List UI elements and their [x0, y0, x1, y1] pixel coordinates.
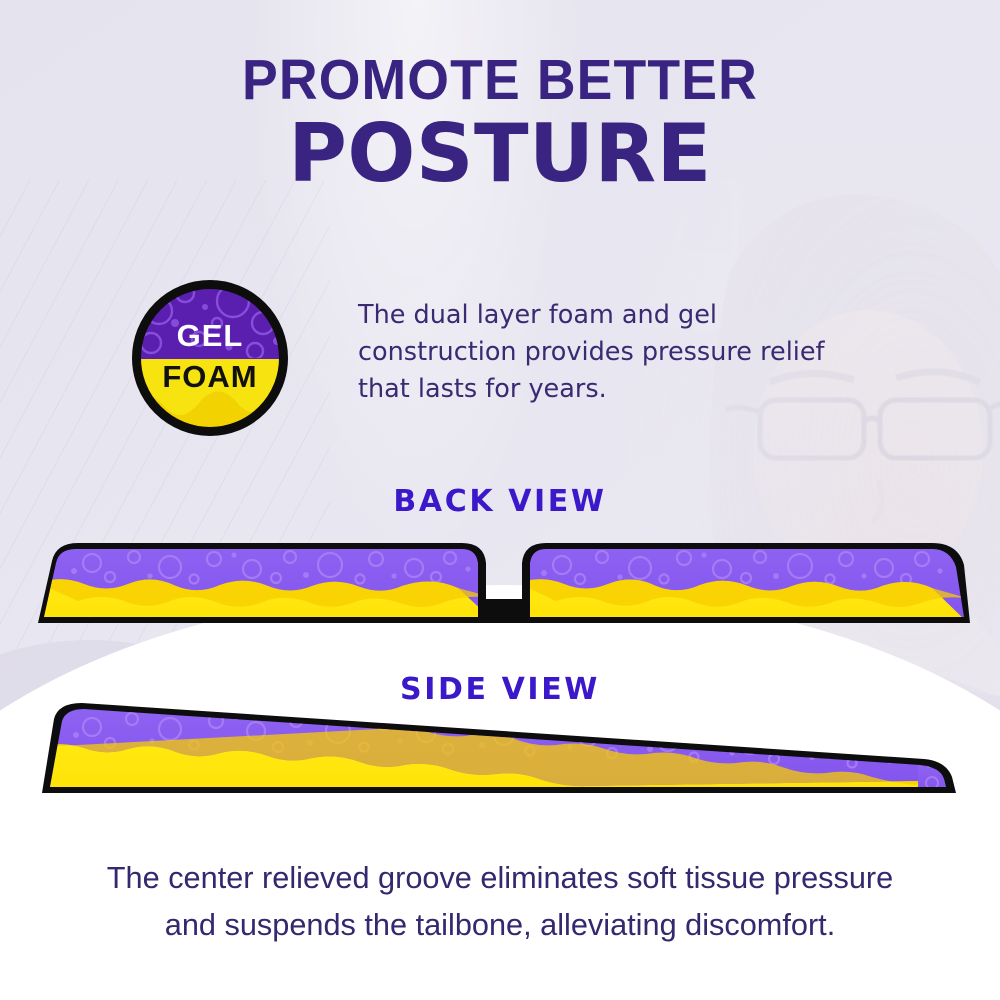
badge-top-label: GEL	[177, 318, 244, 353]
bottom-caption: The center relieved groove eliminates so…	[55, 854, 946, 948]
side-view-label: SIDE VIEW	[0, 672, 1000, 708]
back-view-diagram	[38, 543, 970, 625]
bottom-caption-line-2: and suspends the tailbone, alleviating d…	[55, 901, 946, 948]
gel-foam-badge: GEL FOAM	[129, 277, 291, 439]
side-view-layers	[40, 703, 970, 795]
side-view-diagram	[40, 703, 970, 795]
page-title-line-2: POSTURE	[0, 113, 1000, 195]
intro-paragraph: The dual layer foam and gel construction…	[358, 297, 828, 409]
page-title: PROMOTE BETTER POSTURE	[0, 52, 1000, 195]
badge-bottom-label: FOAM	[162, 359, 257, 394]
back-view-right-half	[518, 543, 970, 625]
gel-foam-badge-icon: GEL FOAM	[129, 277, 291, 439]
back-view-left-half	[38, 543, 498, 625]
page-title-line-1: PROMOTE BETTER	[30, 52, 970, 109]
infographic-page: PROMOTE BETTER POSTURE	[0, 0, 1000, 1000]
bottom-caption-line-1: The center relieved groove eliminates so…	[55, 854, 946, 901]
back-view-label: BACK VIEW	[0, 484, 1000, 520]
